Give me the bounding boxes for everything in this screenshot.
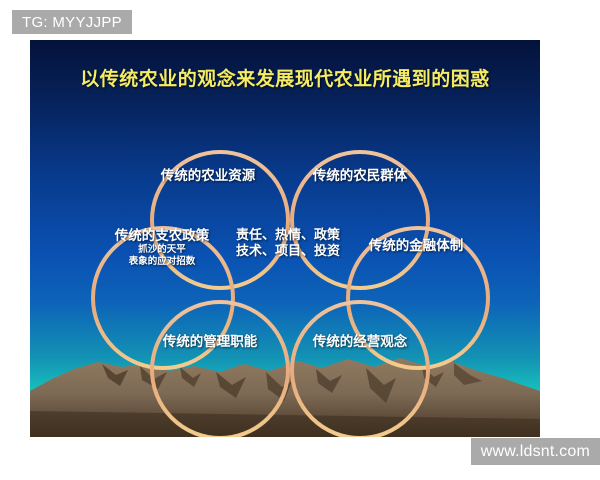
page-title: 以传统农业的观念来发展现代农业所遇到的困惑 <box>30 64 540 91</box>
venn-circle-bottom-right <box>292 302 428 437</box>
watermark-top: TG: MYYJJPP <box>12 10 132 34</box>
slide-canvas: 以传统农业的观念来发展现代农业所遇到的困惑 传统的农业资源 传统的农民群体 传统… <box>30 40 540 437</box>
venn-label-bottom-right: 传统的经营观念 <box>280 334 440 350</box>
venn-label-mid-right: 传统的金融体制 <box>332 238 500 254</box>
venn-label-mid-left: 传统的支农政策 抓沙的天平 表象的应对招数 <box>78 228 246 268</box>
venn-label-top-right: 传统的农民群体 <box>280 168 440 184</box>
venn-circle-bottom-left <box>152 302 288 437</box>
venn-label-bottom-left-text: 传统的管理职能 <box>130 334 290 350</box>
venn-label-top-left: 传统的农业资源 <box>128 168 288 184</box>
watermark-bottom: www.ldsnt.com <box>471 438 600 465</box>
venn-label-top-left-text: 传统的农业资源 <box>128 168 288 184</box>
venn-label-mid-left-main: 传统的支农政策 <box>78 228 246 244</box>
venn-label-bottom-left: 传统的管理职能 <box>130 334 290 350</box>
venn-label-bottom-right-text: 传统的经营观念 <box>280 334 440 350</box>
venn-label-mid-left-sub-2: 表象的应对招数 <box>78 256 246 268</box>
venn-label-top-right-text: 传统的农民群体 <box>280 168 440 184</box>
venn-label-mid-right-text: 传统的金融体制 <box>332 238 500 254</box>
venn-label-mid-left-sub-1: 抓沙的天平 <box>78 244 246 256</box>
